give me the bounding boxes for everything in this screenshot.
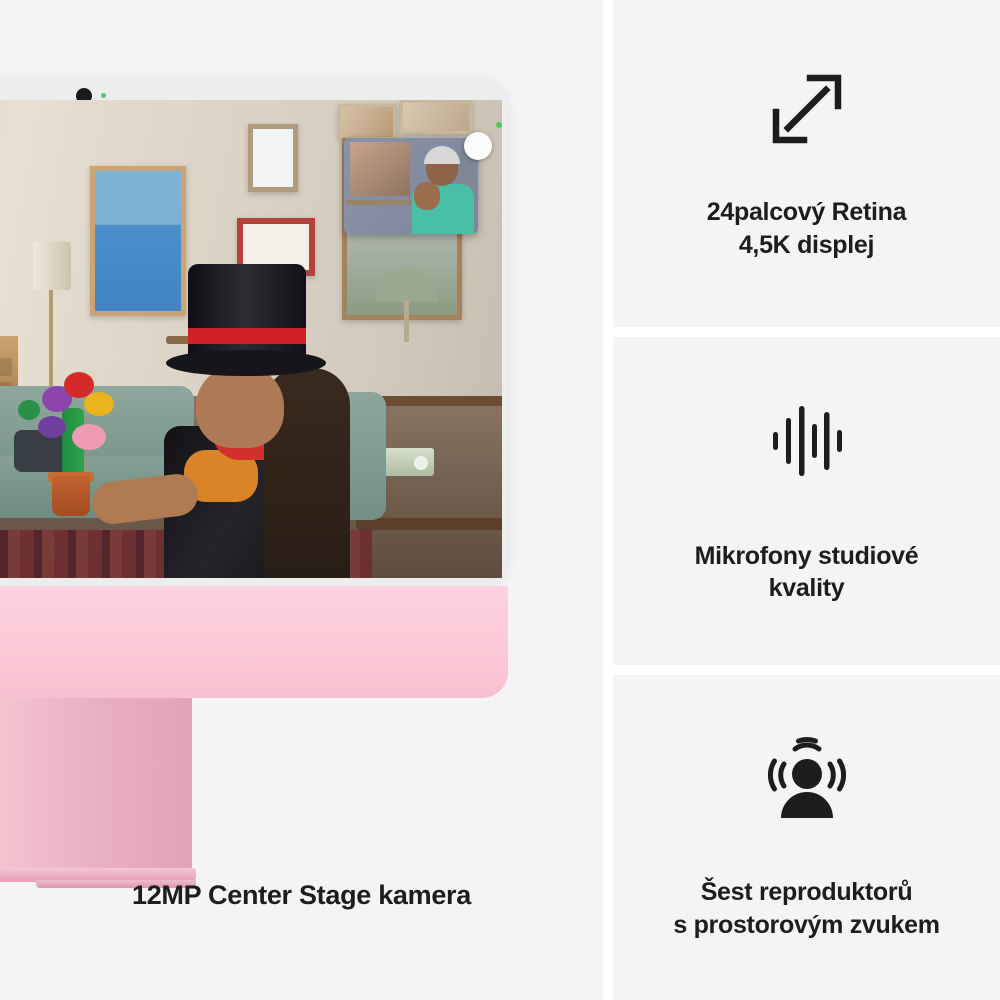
flower-pink — [72, 424, 106, 450]
mirror-lamp-stem — [404, 300, 409, 342]
flower-yellow — [84, 392, 114, 416]
expand-diagonal-arrows-icon — [764, 66, 850, 152]
pip-shelf — [346, 200, 422, 205]
flower-violet — [38, 416, 66, 438]
imac-stand-neck — [0, 698, 192, 870]
girl-top-hat-red-band — [188, 328, 306, 344]
spatial-audio-person-icon — [761, 734, 853, 826]
girl-top-hat-brim — [166, 350, 326, 376]
dresser-drawer-1 — [0, 358, 12, 376]
floor-lamp-shade — [33, 242, 71, 290]
floor-lamp-pole — [49, 290, 53, 400]
facetime-round-button[interactable] — [464, 132, 492, 160]
blue-artwork — [90, 166, 186, 316]
imac-display-body — [0, 78, 508, 586]
picture-in-picture-video[interactable] — [344, 138, 478, 234]
girl-face — [196, 366, 284, 448]
product-feature-page: 12MP Center Stage kamera 24palcový Retin… — [0, 0, 1000, 1000]
flower-pot — [52, 476, 90, 516]
product-caption: 12MP Center Stage kamera — [0, 880, 603, 911]
pip-wall-art — [350, 142, 410, 196]
flower-green — [18, 400, 40, 420]
feature-card-speakers[interactable]: Šest reproduktorů s prostorovým zvukem — [613, 675, 1000, 1000]
feature-card-speakers-label: Šest reproduktorů s prostorovým zvukem — [673, 876, 939, 941]
facetime-scene-photo — [0, 100, 502, 578]
product-image-panel: 12MP Center Stage kamera — [0, 0, 603, 1000]
imac-device-image — [0, 78, 508, 818]
radio-knob — [414, 456, 428, 470]
girl-top-hat-crown — [188, 264, 306, 360]
feature-card-display[interactable]: 24palcový Retina 4,5K displej — [613, 0, 1000, 327]
feature-card-microphones-label: Mikrofony studiové kvality — [695, 540, 919, 605]
right-lower-shelf — [356, 518, 502, 530]
top-artwork-2 — [400, 100, 472, 134]
camera-indicator-led-icon — [101, 93, 106, 98]
audio-waveform-icon — [764, 398, 850, 484]
imac-screen — [0, 100, 502, 578]
imac-pink-chin — [0, 586, 508, 698]
top-artwork-1 — [338, 104, 396, 140]
white-framed-picture — [248, 124, 298, 192]
feature-card-display-label: 24palcový Retina 4,5K displej — [707, 196, 906, 261]
pip-person-hair — [424, 146, 460, 164]
screen-indicator-led-icon — [496, 122, 502, 128]
feature-card-microphones[interactable]: Mikrofony studiové kvality — [613, 337, 1000, 665]
pip-person-hand — [414, 182, 440, 210]
